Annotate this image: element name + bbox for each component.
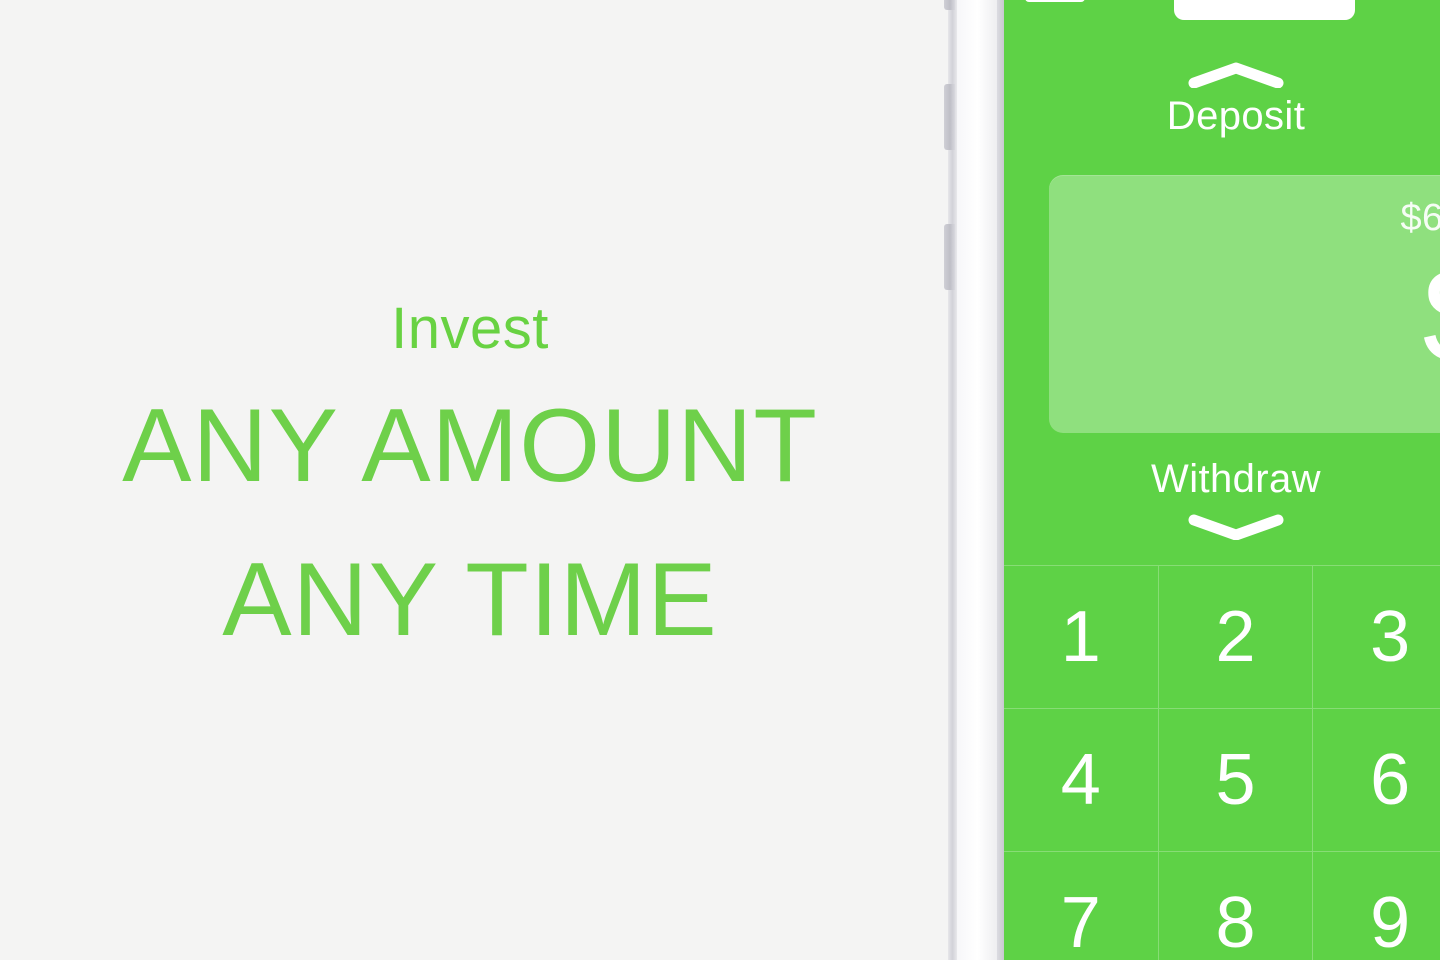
headline-line-1: ANY AMOUNT <box>0 396 940 498</box>
keypad-key-1[interactable]: 1 <box>1004 566 1159 709</box>
keypad-key-7[interactable]: 7 <box>1004 852 1159 960</box>
phone-inner-bezel <box>997 0 1004 960</box>
hamburger-bar-3 <box>1025 0 1085 2</box>
app-screen: Onetime Recurring Deposit $630.49 $5 Wit… <box>1004 0 1440 960</box>
withdraw-label: Withdraw <box>1004 457 1440 502</box>
keypad-key-9[interactable]: 9 <box>1313 852 1440 960</box>
marketing-copy: Invest ANY AMOUNT ANY TIME <box>0 300 940 652</box>
mute-switch-button[interactable] <box>944 0 955 10</box>
amount-input-value: $5 <box>1423 247 1440 385</box>
headline-line-2: ANY TIME <box>0 550 940 652</box>
eyebrow-label: Invest <box>0 300 940 358</box>
keypad-key-2[interactable]: 2 <box>1159 566 1314 709</box>
page-title: ANY AMOUNT ANY TIME <box>0 396 940 652</box>
amount-card[interactable]: $630.49 $5 <box>1049 175 1440 433</box>
tab-bar: Onetime Recurring <box>1174 0 1440 20</box>
chevron-up-icon <box>1188 62 1284 88</box>
keypad-key-5[interactable]: 5 <box>1159 709 1314 852</box>
tab-onetime[interactable]: Onetime <box>1174 0 1355 20</box>
chevron-down-icon <box>1188 514 1284 540</box>
screenshot-root: Invest ANY AMOUNT ANY TIME O <box>0 0 1440 960</box>
withdraw-control[interactable]: Withdraw <box>1004 457 1440 540</box>
volume-up-button[interactable] <box>944 84 955 150</box>
marketing-panel: Invest ANY AMOUNT ANY TIME <box>0 0 940 960</box>
deposit-label: Deposit <box>1004 94 1440 139</box>
keypad-key-8[interactable]: 8 <box>1159 852 1314 960</box>
volume-down-button[interactable] <box>944 224 955 290</box>
tab-recurring[interactable]: Recurring <box>1359 0 1440 20</box>
app-topbar: Onetime Recurring <box>1004 0 1440 32</box>
deposit-control[interactable]: Deposit <box>1004 62 1440 139</box>
account-balance: $630.49 <box>1401 197 1440 240</box>
numeric-keypad: 1 2 3 4 5 6 7 8 9 <box>1004 565 1440 960</box>
hamburger-menu-icon[interactable] <box>1025 0 1085 12</box>
keypad-key-4[interactable]: 4 <box>1004 709 1159 852</box>
keypad-key-6[interactable]: 6 <box>1313 709 1440 852</box>
keypad-key-3[interactable]: 3 <box>1313 566 1440 709</box>
phone-mockup: Onetime Recurring Deposit $630.49 $5 Wit… <box>948 0 1440 960</box>
